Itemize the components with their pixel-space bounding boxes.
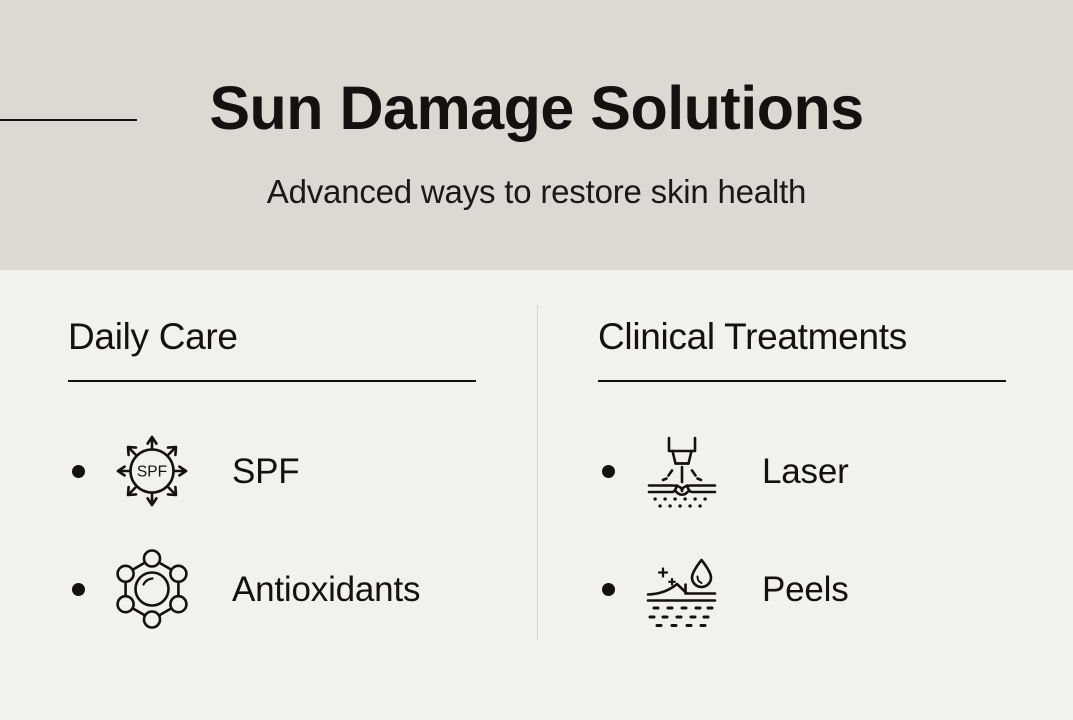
bullet-point (72, 583, 85, 596)
header-band: Sun Damage Solutions Advanced ways to re… (0, 0, 1073, 270)
column-clinical-treatments: Clinical Treatments (598, 270, 1038, 648)
skin-peel-droplet-icon (639, 546, 725, 632)
column-daily-care: Daily Care (68, 270, 508, 648)
column-heading-clinical-treatments: Clinical Treatments (598, 270, 1038, 355)
page-title: Sun Damage Solutions (0, 78, 1073, 139)
item-list-daily-care: SPF SPF (68, 412, 508, 648)
list-item-label: SPF (232, 454, 299, 489)
list-item[interactable]: Laser (598, 412, 1038, 530)
columns-container: Daily Care (0, 270, 1073, 720)
infographic-root: Sun Damage Solutions Advanced ways to re… (0, 0, 1073, 720)
column-heading-rule (598, 380, 1006, 382)
list-item[interactable]: Antioxidants (68, 530, 508, 648)
bullet-point (72, 465, 85, 478)
bullet-point (602, 465, 615, 478)
list-item-label: Antioxidants (232, 572, 420, 607)
sun-spf-icon: SPF (109, 428, 195, 514)
column-divider (537, 305, 538, 640)
column-heading-daily-care: Daily Care (68, 270, 508, 355)
molecule-icon (109, 546, 195, 632)
laser-device-icon (639, 428, 725, 514)
column-heading-rule (68, 380, 476, 382)
item-list-clinical-treatments: Laser (598, 412, 1038, 648)
list-item-label: Peels (762, 572, 849, 607)
list-item[interactable]: SPF SPF (68, 412, 508, 530)
list-item-label: Laser (762, 454, 849, 489)
page-subtitle: Advanced ways to restore skin health (0, 172, 1073, 212)
spf-icon-text: SPF (137, 464, 167, 481)
list-item[interactable]: Peels (598, 530, 1038, 648)
bullet-point (602, 583, 615, 596)
